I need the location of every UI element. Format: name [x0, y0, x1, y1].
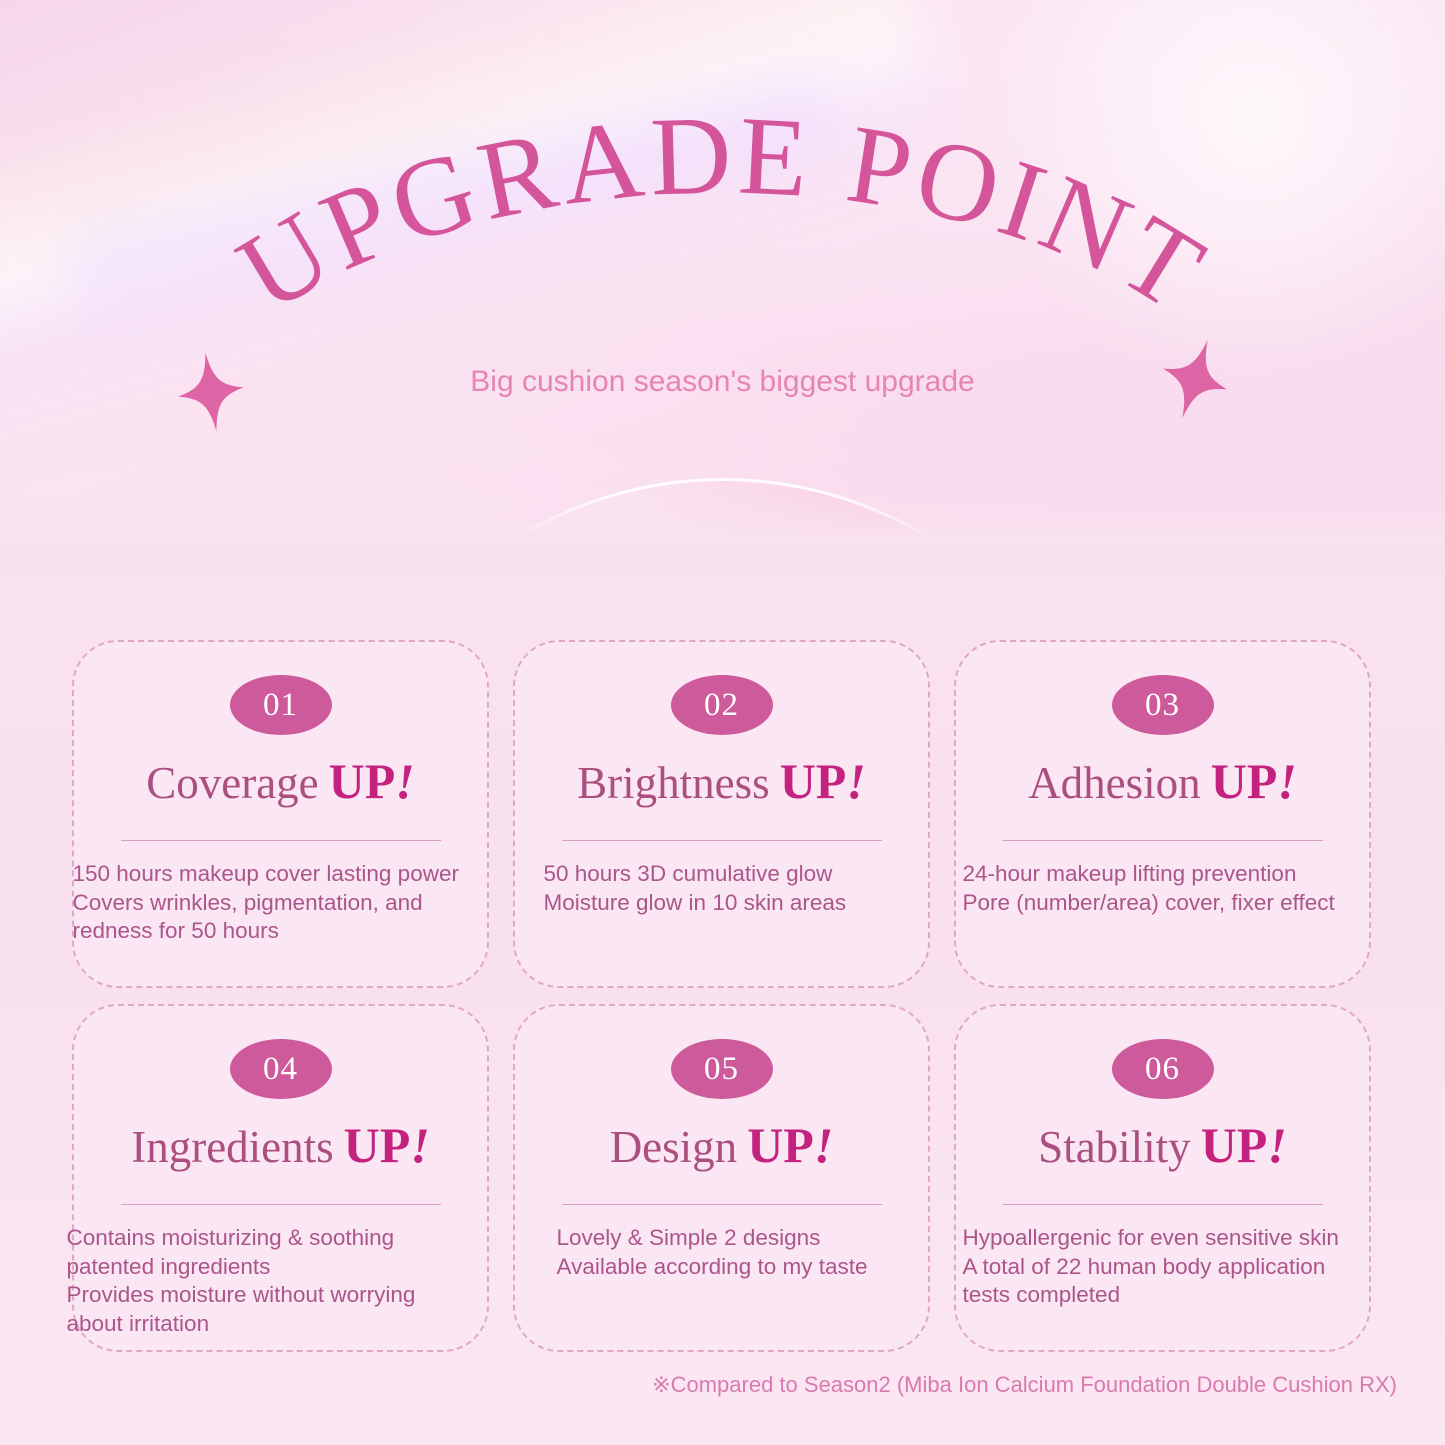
cards-section: 01 CoverageUP! 150 hours makeup cover la…	[0, 578, 1445, 1445]
card-body: Contains moisturizing & soothing patente…	[67, 1224, 477, 1338]
header-floor-fade	[0, 492, 1445, 578]
card-body: 150 hours makeup cover lasting power Cov…	[73, 860, 473, 946]
card-divider	[562, 840, 882, 841]
card-title-label: Brightness	[577, 758, 770, 808]
card-body-line: Contains moisturizing & soothing patente…	[67, 1224, 477, 1281]
card-number-badge: 01	[230, 675, 332, 735]
card-title-label: Coverage	[146, 758, 318, 808]
card-up-label: UP	[344, 1117, 411, 1173]
card-title-label: Ingredients	[131, 1122, 333, 1172]
card-divider	[121, 840, 441, 841]
upgrade-card-01[interactable]: 01 CoverageUP! 150 hours makeup cover la…	[72, 640, 489, 988]
card-body-line: Pore (number/area) cover, fixer effect	[963, 889, 1383, 918]
card-body: 50 hours 3D cumulative glow Moisture glo…	[544, 860, 964, 917]
card-up-label: UP	[1201, 1117, 1268, 1173]
card-up-label: UP	[780, 753, 847, 809]
card-body-line: Available according to my taste	[557, 1253, 977, 1282]
upgrade-card-02[interactable]: 02 BrightnessUP! 50 hours 3D cumulative …	[513, 640, 930, 988]
header-section: UPGRADE POINT Big cushion season's bigge…	[0, 0, 1445, 578]
card-up-label: UP	[747, 1117, 814, 1173]
card-title: AdhesionUP!	[956, 752, 1369, 810]
upgrade-card-03[interactable]: 03 AdhesionUP! 24-hour makeup lifting pr…	[954, 640, 1371, 988]
card-divider	[1003, 1204, 1323, 1205]
card-title: CoverageUP!	[74, 752, 487, 810]
sparkle-icon	[173, 348, 249, 436]
card-body-line: Lovely & Simple 2 designs	[557, 1224, 977, 1253]
card-title-label: Adhesion	[1028, 758, 1201, 808]
upgrade-card-06[interactable]: 06 StabilityUP! Hypoallergenic for even …	[954, 1004, 1371, 1352]
card-number-badge: 02	[671, 675, 773, 735]
card-up-bang: !	[1267, 1117, 1286, 1173]
card-body-line: Provides moisture without worrying about…	[67, 1281, 477, 1338]
card-number-badge: 03	[1112, 675, 1214, 735]
card-divider	[562, 1204, 882, 1205]
card-body-line: Moisture glow in 10 skin areas	[544, 889, 964, 918]
card-title-label: Design	[610, 1122, 738, 1172]
card-up-bang: !	[846, 753, 865, 809]
card-title: DesignUP!	[515, 1116, 928, 1174]
upgrade-card-05[interactable]: 05 DesignUP! Lovely & Simple 2 designs A…	[513, 1004, 930, 1352]
card-number-badge: 06	[1112, 1039, 1214, 1099]
card-title: StabilityUP!	[956, 1116, 1369, 1174]
card-body: Lovely & Simple 2 designs Available acco…	[557, 1224, 977, 1281]
card-body-line: 50 hours 3D cumulative glow	[544, 860, 964, 889]
card-body-line: 24-hour makeup lifting prevention	[963, 860, 1383, 889]
card-number-badge: 05	[671, 1039, 773, 1099]
card-body: 24-hour makeup lifting prevention Pore (…	[963, 860, 1383, 917]
card-title-label: Stability	[1038, 1122, 1191, 1172]
card-up-label: UP	[1211, 753, 1278, 809]
card-up-bang: !	[410, 1117, 429, 1173]
infographic-page: UPGRADE POINT Big cushion season's bigge…	[0, 0, 1445, 1445]
card-up-label: UP	[329, 753, 396, 809]
card-number-badge: 04	[230, 1039, 332, 1099]
card-body: Hypoallergenic for even sensitive skin A…	[963, 1224, 1343, 1310]
card-body-line: 150 hours makeup cover lasting power	[73, 860, 473, 889]
upgrade-card-04[interactable]: 04 IngredientsUP! Contains moisturizing …	[72, 1004, 489, 1352]
card-body-line: A total of 22 human body application tes…	[963, 1253, 1343, 1310]
card-up-bang: !	[1277, 753, 1296, 809]
footnote: ※Compared to Season2 (Miba Ion Calcium F…	[0, 1372, 1445, 1398]
upgrade-points-grid: 01 CoverageUP! 150 hours makeup cover la…	[72, 640, 1387, 1352]
card-title: BrightnessUP!	[515, 752, 928, 810]
card-up-bang: !	[814, 1117, 833, 1173]
card-divider	[1003, 840, 1323, 841]
card-body-line: Covers wrinkles, pigmentation, and redne…	[73, 889, 473, 946]
card-body-line: Hypoallergenic for even sensitive skin	[963, 1224, 1343, 1253]
card-title: IngredientsUP!	[74, 1116, 487, 1174]
card-divider	[121, 1204, 441, 1205]
card-up-bang: !	[395, 753, 414, 809]
